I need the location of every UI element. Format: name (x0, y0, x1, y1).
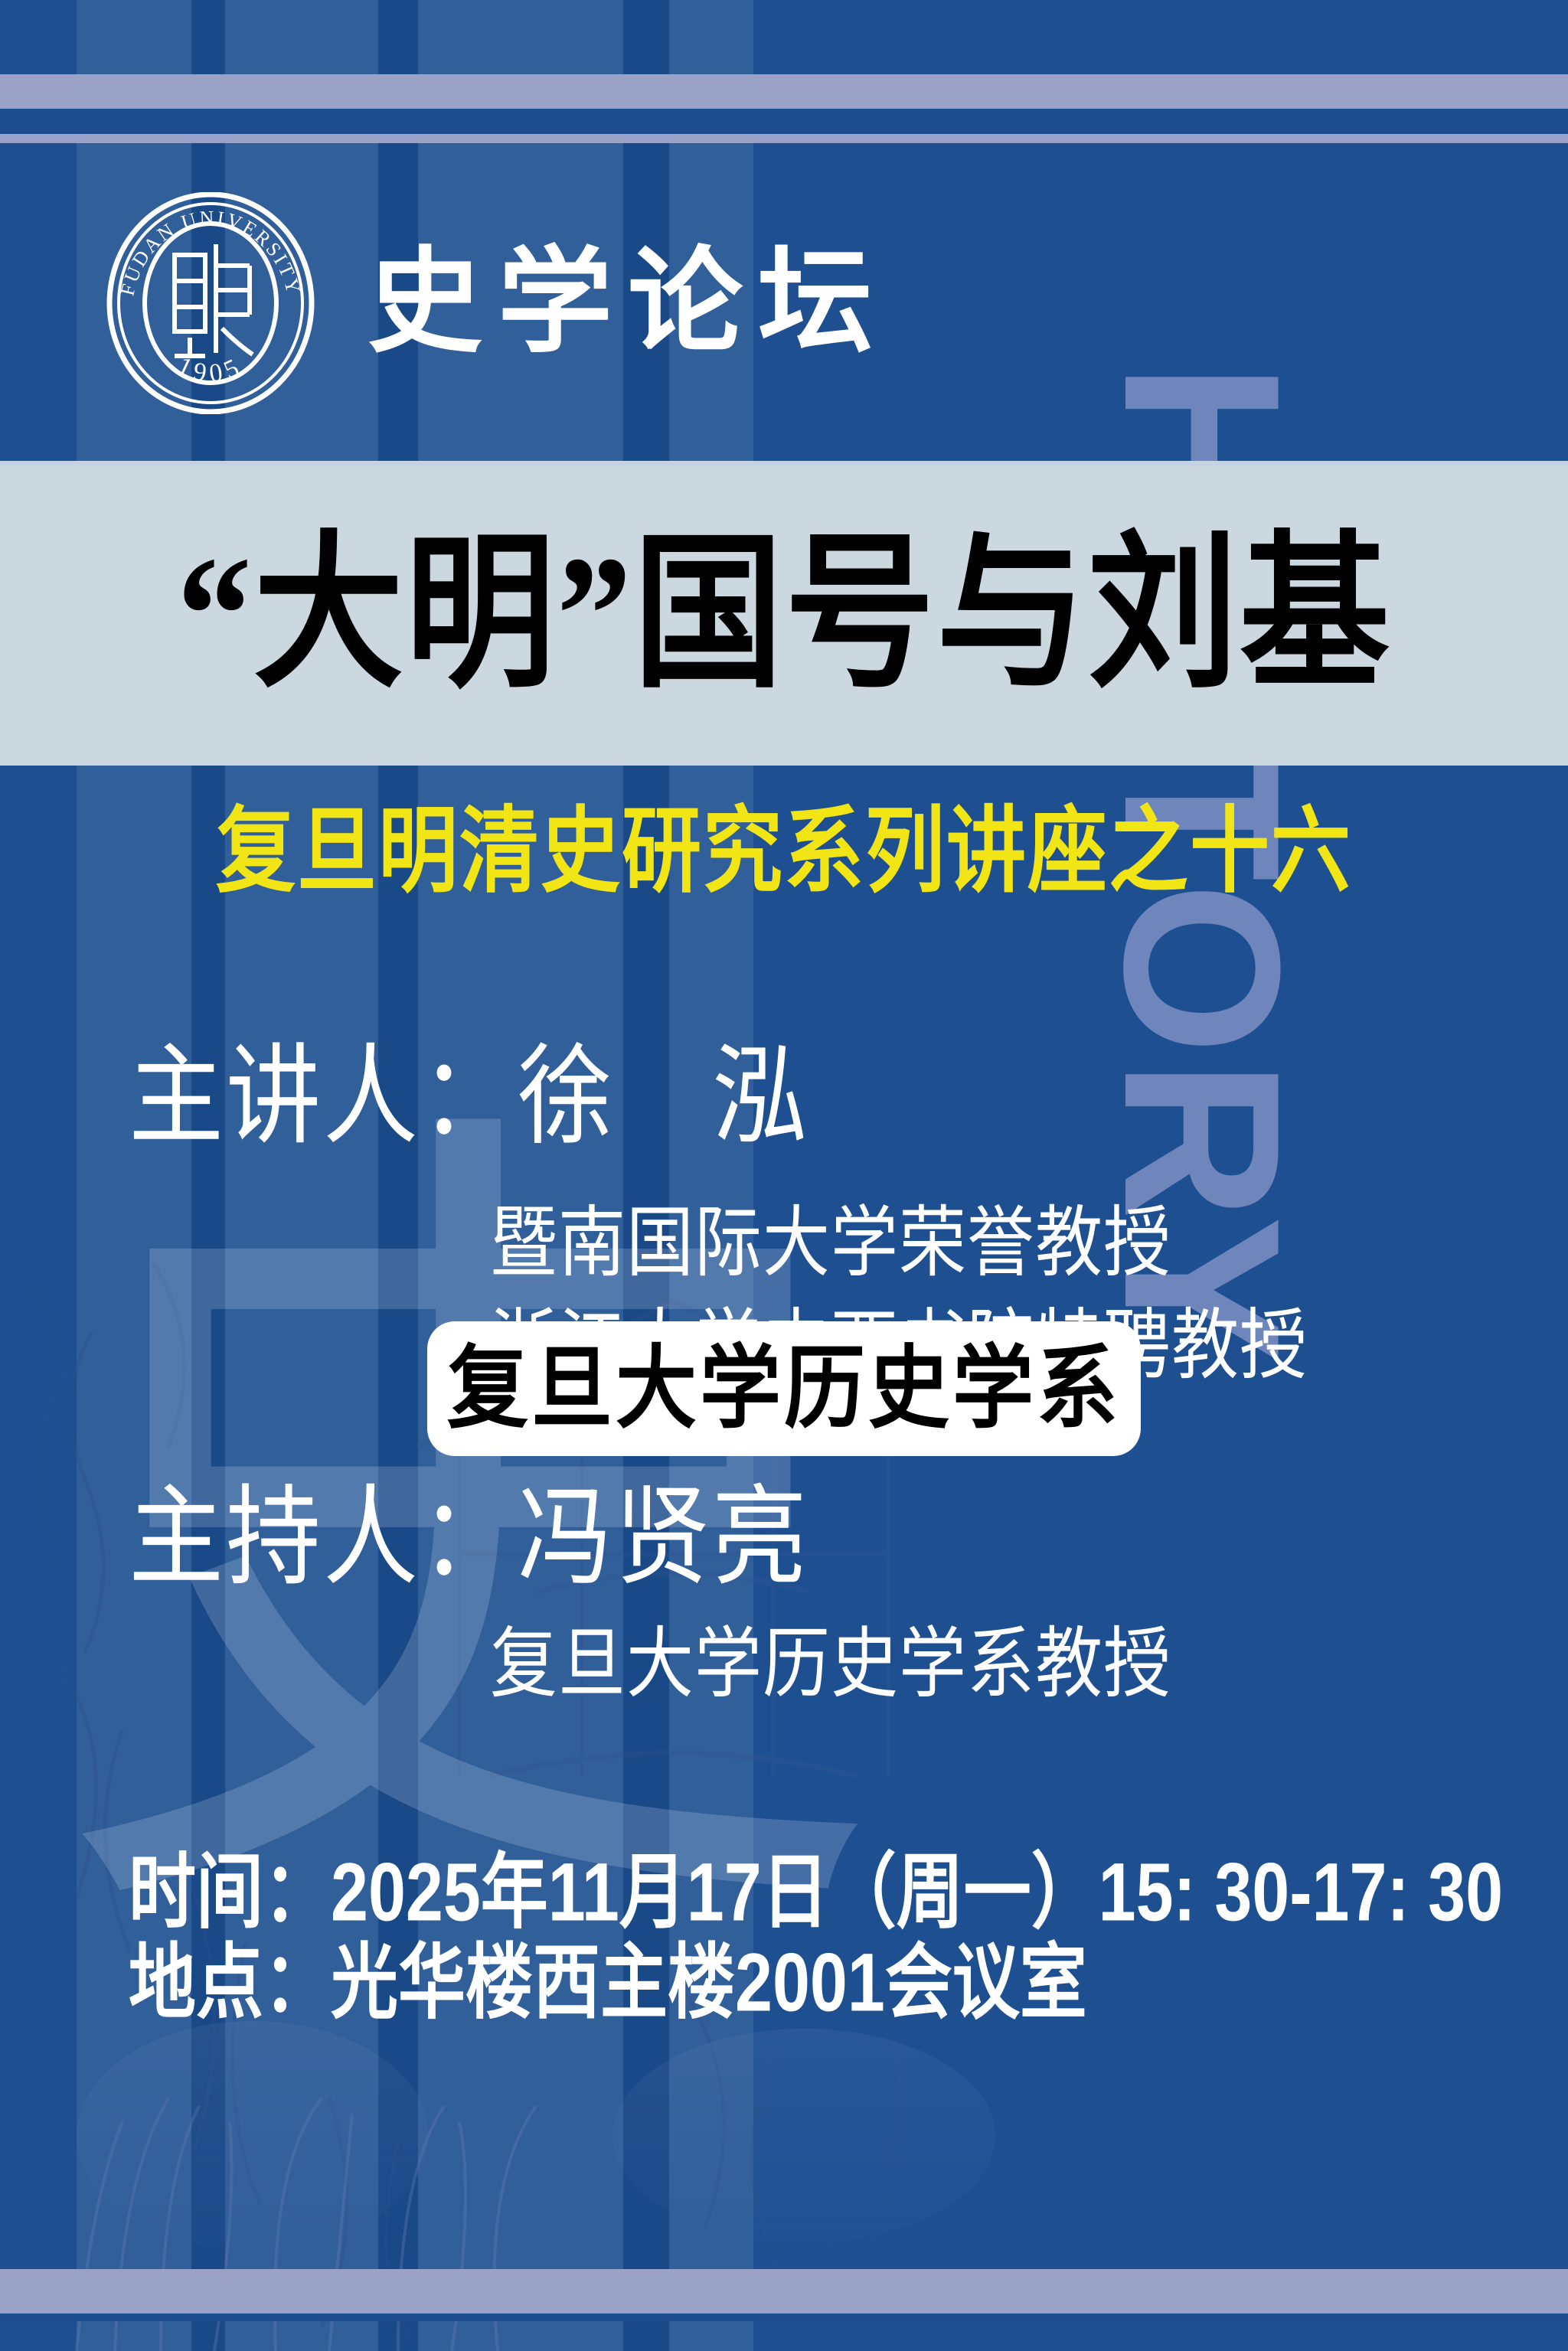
host-affiliation: 复旦大学历史学系教授 (490, 1627, 1171, 1704)
organizer-button[interactable]: 复旦大学历史学系 (427, 1321, 1141, 1456)
top-stripe-3 (0, 134, 1568, 143)
top-stripe-1 (0, 74, 1568, 109)
series-subtitle: 复旦明清史研究系列讲座之十六 (0, 806, 1568, 900)
top-stripe-2 (0, 109, 1568, 134)
event-location: 地点：光华楼西主楼2001会议室 (129, 1941, 1087, 2023)
speaker-name-line: 主讲人：徐 泓 (129, 1043, 809, 1153)
page-title: “大明”国号与刘基 (177, 531, 1391, 700)
event-time: 时间：2025年11月17日（周一）15: 30-17: 30 (129, 1851, 1503, 1933)
fudan-university-seal-icon: FUDAN UNIVERSITY 1905 (100, 192, 322, 414)
main-title-band: “大明”国号与刘基 (0, 461, 1568, 766)
host-name-line: 主持人：冯贤亮 (129, 1484, 809, 1594)
organizer-label: 复旦大学历史学系 (447, 1344, 1121, 1435)
forum-title: 史学论坛 (367, 246, 888, 361)
poster-header: FUDAN UNIVERSITY 1905 史学论坛 (0, 145, 1568, 461)
poster-content: 复旦明清史研究系列讲座之十六 主讲人：徐 泓 暨南国际大学荣誉教授 浙江大学中西… (0, 766, 1568, 2351)
lecture-poster: 史 (0, 0, 1568, 2351)
speaker-affiliation-1: 暨南国际大学荣誉教授 (490, 1206, 1171, 1283)
